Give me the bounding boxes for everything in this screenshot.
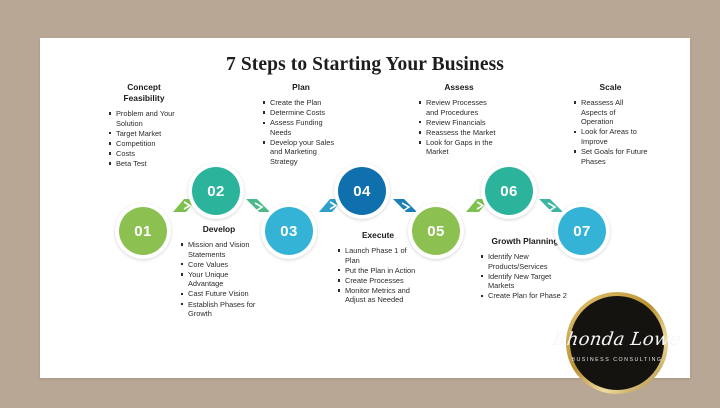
step-label-plan: Plan Create the Plan Determine Costs Ass…	[262, 82, 340, 167]
list-item: Cast Future Vision	[180, 289, 258, 299]
step-heading: Execute	[337, 230, 419, 241]
step-number: 01	[119, 207, 167, 255]
step-circle-04[interactable]: 04	[334, 163, 390, 219]
step-label-scale: Scale Reassess All Aspects of Operation …	[573, 82, 648, 167]
step-circle-02[interactable]: 02	[188, 163, 244, 219]
step-circle-05[interactable]: 05	[408, 203, 464, 259]
list-item: Create Processes	[337, 276, 419, 286]
logo-disc: Rhonda Lowe BUSINESS CONSULTING	[570, 296, 664, 390]
list-item: Competition	[108, 139, 180, 149]
step-bullets: Mission and Vision Statements Core Value…	[180, 240, 258, 319]
step-number: 05	[412, 207, 460, 255]
list-item: Determine Costs	[262, 108, 340, 118]
step-heading: Plan	[262, 82, 340, 93]
list-item: Look for Areas to Improve	[573, 127, 648, 146]
list-item: Beta Test	[108, 159, 180, 169]
list-item: Review Processes and Procedures	[418, 98, 500, 117]
step-bullets: Problem and Your Solution Target Market …	[108, 109, 180, 169]
step-number: 03	[265, 207, 313, 255]
step-circle-03[interactable]: 03	[261, 203, 317, 259]
list-item: Assess Funding Needs	[262, 118, 340, 137]
brand-logo: Rhonda Lowe BUSINESS CONSULTING	[552, 278, 682, 408]
list-item: Core Values	[180, 260, 258, 270]
list-item: Costs	[108, 149, 180, 159]
step-heading: Assess	[418, 82, 500, 93]
step-label-assess: Assess Review Processes and Procedures R…	[418, 82, 500, 158]
page-title: 7 Steps to Starting Your Business	[40, 54, 690, 76]
step-circle-06[interactable]: 06	[481, 163, 537, 219]
step-heading: ConceptFeasibility	[108, 82, 180, 104]
step-bullets: Review Processes and Procedures Review F…	[418, 98, 500, 157]
list-item: Reassess All Aspects of Operation	[573, 98, 648, 127]
slide-canvas: 7 Steps to Starting Your Business Concep…	[40, 38, 690, 378]
list-item: Create the Plan	[262, 98, 340, 108]
list-item: Establish Phases for Growth	[180, 300, 258, 319]
step-bullets: Reassess All Aspects of Operation Look f…	[573, 98, 648, 166]
step-circle-01[interactable]: 01	[115, 203, 171, 259]
step-circle-07[interactable]: 07	[554, 203, 610, 259]
list-item: Launch Phase 1 of Plan	[337, 246, 419, 265]
list-item: Monitor Metrics and Adjust as Needed	[337, 286, 419, 305]
list-item: Identify New Products/Services	[480, 252, 570, 271]
step-label-develop: Develop Mission and Vision Statements Co…	[180, 224, 258, 319]
step-number: 07	[558, 207, 606, 255]
list-item: Reassess the Market	[418, 128, 500, 138]
step-number: 04	[338, 167, 386, 215]
step-label-execute: Execute Launch Phase 1 of Plan Put the P…	[337, 230, 419, 306]
logo-tagline: BUSINESS CONSULTING	[571, 357, 662, 363]
step-heading: Scale	[573, 82, 648, 93]
step-heading: Develop	[180, 224, 258, 235]
step-bullets: Create the Plan Determine Costs Assess F…	[262, 98, 340, 167]
list-item: Review Financials	[418, 118, 500, 128]
list-item: Target Market	[108, 129, 180, 139]
logo-name: Rhonda Lowe	[552, 329, 683, 350]
list-item: Mission and Vision Statements	[180, 240, 258, 259]
step-label-concept-feasibility: ConceptFeasibility Problem and Your Solu…	[108, 82, 180, 169]
step-number: 02	[192, 167, 240, 215]
step-bullets: Launch Phase 1 of Plan Put the Plan in A…	[337, 246, 419, 305]
list-item: Look for Gaps in the Market	[418, 138, 500, 157]
list-item: Your Unique Advantage	[180, 270, 258, 289]
list-item: Problem and Your Solution	[108, 109, 180, 128]
list-item: Develop your Sales and Marketing Strateg…	[262, 138, 340, 167]
list-item: Put the Plan in Action	[337, 266, 419, 276]
list-item: Set Goals for Future Phases	[573, 147, 648, 166]
step-number: 06	[485, 167, 533, 215]
